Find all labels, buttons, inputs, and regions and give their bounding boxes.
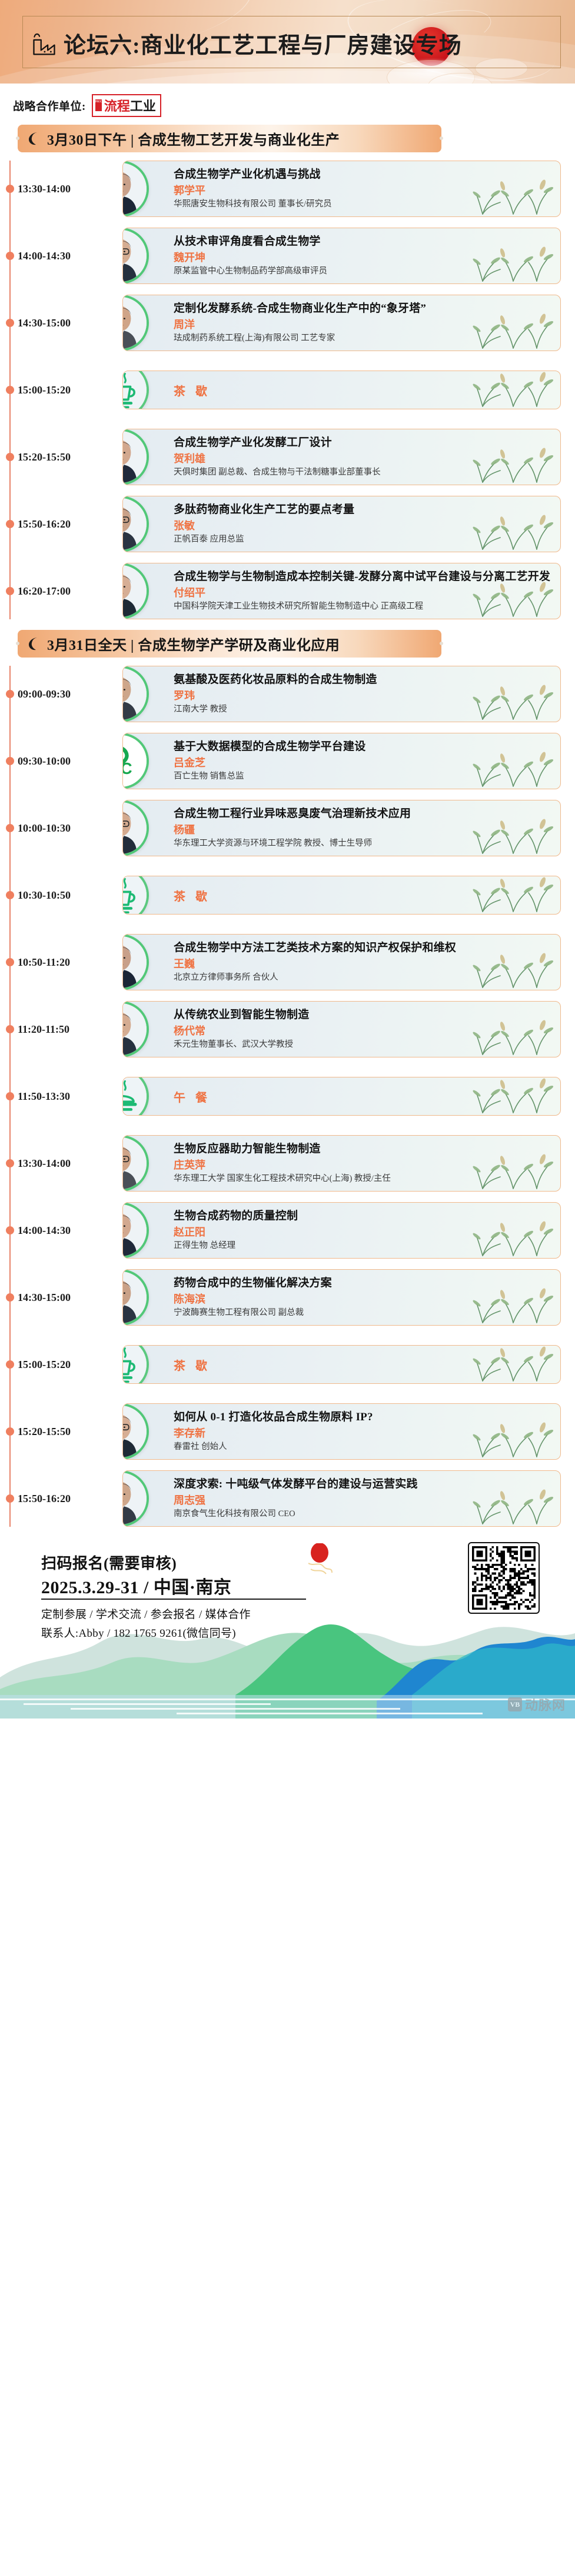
session-card[interactable]: 茶 歇 bbox=[122, 371, 561, 409]
speaker-affiliation: 原某监管中心生物制品药学部高级审评员 bbox=[174, 266, 551, 277]
speaker-name: 周志强 bbox=[174, 1494, 551, 1507]
speaker-avatar bbox=[122, 1202, 149, 1258]
session-time: 11:50-13:30 bbox=[18, 1090, 92, 1103]
session-card[interactable]: 合成生物学产业化机遇与挑战 郭学平 华熙唐安生物科技有限公司 董事长/研究员 bbox=[122, 161, 561, 216]
agenda-talk-row: 13:30-14:00 合成生物学产业化机遇与挑战 郭学平 华熙唐安生物科技有限… bbox=[0, 161, 575, 217]
speaker-avatar bbox=[122, 429, 149, 485]
agenda-talk-row: 14:00-14:30 从技术审评角度看合成生物学 魏开坤 原某监管中心生物制品… bbox=[0, 228, 575, 284]
timeline-dot bbox=[6, 690, 14, 698]
tea-cup-icon bbox=[122, 371, 149, 409]
session-card[interactable]: 生物反应器助力智能生物制造 庄英萍 华东理工大学 国家生化工程技术研究中心(上海… bbox=[122, 1135, 561, 1191]
session-time: 09:30-10:00 bbox=[18, 755, 92, 768]
page-title: 论坛六:商业化工艺工程与厂房建设专场 bbox=[64, 27, 462, 59]
speaker-name: 郭学平 bbox=[174, 185, 551, 198]
timeline-dot bbox=[6, 1226, 14, 1234]
session-card[interactable]: 合成生物工程行业异味恶臭废气治理新技术应用 杨疆 华东理工大学资源与环境工程学院… bbox=[122, 800, 561, 856]
timeline-dot bbox=[6, 1159, 14, 1167]
session-header-2: 3月31日全天 | 合成生物学产学研及商业化应用 bbox=[18, 630, 441, 658]
talk-title: 药物合成中的生物催化解决方案 bbox=[174, 1276, 551, 1290]
timeline-dot bbox=[6, 1494, 14, 1503]
watermark-mark: VB bbox=[508, 1697, 522, 1711]
agenda-talk-row: 14:00-14:30 生物合成药物的质量控制 赵正阳 正得生物 总经理 bbox=[0, 1202, 575, 1259]
break-label: 茶 歇 bbox=[174, 1356, 551, 1373]
speaker-affiliation: 正得生物 总经理 bbox=[174, 1240, 551, 1252]
speaker-name: 吕金芝 bbox=[174, 757, 551, 770]
talk-title: 生物反应器助力智能生物制造 bbox=[174, 1142, 551, 1156]
session-time: 15:20-15:50 bbox=[18, 451, 92, 463]
speaker-name: 杨疆 bbox=[174, 824, 551, 837]
session-card[interactable]: 生物合成药物的质量控制 赵正阳 正得生物 总经理 bbox=[122, 1202, 561, 1258]
watermark-text: 动脉网 bbox=[525, 1695, 566, 1714]
speaker-affiliation: 春雷社 创始人 bbox=[174, 1442, 551, 1453]
partner-label: 战略合作单位: bbox=[13, 98, 86, 114]
talk-title: 合成生物学中方法工艺类技术方案的知识产权保护和维权 bbox=[174, 941, 551, 955]
timeline-dot bbox=[6, 757, 14, 765]
speaker-affiliation: 华东理工大学资源与环境工程学院 教授、博士生导师 bbox=[174, 838, 551, 849]
timeline-dot bbox=[6, 1427, 14, 1436]
session-time: 14:00-14:30 bbox=[18, 1224, 92, 1237]
tea-cup-icon bbox=[122, 876, 149, 915]
session-header-text: 3月31日全天 | 合成生物学产学研及商业化应用 bbox=[47, 633, 340, 654]
speaker-name: 张敏 bbox=[174, 520, 551, 533]
partner-logo: PROCESS 流程工业 bbox=[92, 94, 161, 117]
speaker-affiliation: 百亡生物 销售总监 bbox=[174, 771, 551, 782]
timeline-dot bbox=[6, 587, 14, 595]
speaker-name: 周洋 bbox=[174, 319, 551, 332]
session-time: 09:00-09:30 bbox=[18, 688, 92, 700]
break-label: 午 餐 bbox=[174, 1088, 551, 1105]
footer-section: 扫码报名(需要审核) 2025.3.29-31 / 中国·南京 定制参展 / 学… bbox=[0, 1542, 575, 1719]
speaker-avatar bbox=[122, 666, 149, 722]
footer-date-location: 2025.3.29-31 / 中国·南京 bbox=[41, 1573, 231, 1599]
break-label: 茶 歇 bbox=[174, 887, 551, 904]
speaker-avatar bbox=[122, 1470, 149, 1526]
partner-logo-badge: PROCESS bbox=[95, 99, 102, 111]
session-card[interactable]: 如何从 0-1 打造化妆品合成生物原料 IP? 李存新 春雷社 创始人 bbox=[122, 1403, 561, 1459]
timeline-dot bbox=[6, 1293, 14, 1302]
agenda-talk-row: 16:20-17:00 合成生物学与生物制造成本控制关键-发酵分离中试平台建设与… bbox=[0, 563, 575, 619]
timeline-dot bbox=[6, 1025, 14, 1033]
session-time: 15:00-15:20 bbox=[18, 1359, 92, 1371]
agenda-container: 3月30日下午 | 合成生物工艺开发与商业化生产 13:30-14:00 合成生… bbox=[0, 125, 575, 1527]
header-banner: 论坛六:商业化工艺工程与厂房建设专场 bbox=[0, 0, 575, 84]
session-time: 13:30-14:00 bbox=[18, 183, 92, 195]
session-time: 16:20-17:00 bbox=[18, 585, 92, 598]
session-time: 14:30-15:00 bbox=[18, 1292, 92, 1304]
timeline-dot bbox=[6, 453, 14, 461]
agenda-talk-row: 14:30-15:00 定制化发酵系统-合成生物商业化生产中的“象牙塔” 周洋 … bbox=[0, 295, 575, 351]
timeline-dot bbox=[6, 891, 14, 899]
speaker-name: 王巍 bbox=[174, 958, 551, 971]
session-time: 15:20-15:50 bbox=[18, 1426, 92, 1438]
footer-title: 扫码报名(需要审核) bbox=[41, 1551, 177, 1573]
speaker-name: 庄英萍 bbox=[174, 1159, 551, 1172]
speaker-avatar bbox=[122, 934, 149, 990]
speaker-affiliation: 宁波酶赛生物工程有限公司 副总裁 bbox=[174, 1307, 551, 1319]
agenda-talk-row: 14:30-15:00 药物合成中的生物催化解决方案 陈海滨 宁波酶赛生物工程有… bbox=[0, 1269, 575, 1326]
session-card[interactable]: 茶 歇 bbox=[122, 1345, 561, 1384]
agenda-break-row: 15:00-15:20 茶 歇 bbox=[0, 362, 575, 418]
lunch-icon bbox=[122, 1077, 149, 1116]
session-card[interactable]: 茶 歇 bbox=[122, 876, 561, 915]
speaker-affiliation: 中国科学院天津工业生物技术研究所智能生物制造中心 正高级工程 bbox=[174, 601, 551, 612]
speaker-affiliation: 华东理工大学 国家生化工程技术研究中心(上海) 教授/主任 bbox=[174, 1173, 551, 1184]
session-time: 13:30-14:00 bbox=[18, 1157, 92, 1170]
timeline-dot bbox=[6, 185, 14, 193]
talk-title: 从技术审评角度看合成生物学 bbox=[174, 235, 551, 249]
speaker-affiliation: 珐成制药系统工程(上海)有限公司 工艺专家 bbox=[174, 333, 551, 344]
session-card[interactable]: 合成生物学与生物制造成本控制关键-发酵分离中试平台建设与分离工艺开发 付绍平 中… bbox=[122, 563, 561, 619]
speaker-avatar: BC bbox=[122, 733, 149, 789]
speaker-avatar bbox=[122, 1135, 149, 1191]
session-time: 14:30-15:00 bbox=[18, 317, 92, 329]
strategic-partner-row: 战略合作单位: PROCESS 流程工业 bbox=[0, 84, 575, 120]
session-time: 15:50-16:20 bbox=[18, 1493, 92, 1505]
session-time: 11:20-11:50 bbox=[18, 1023, 92, 1036]
session-time: 10:50-11:20 bbox=[18, 956, 92, 969]
speaker-name: 杨代常 bbox=[174, 1025, 551, 1038]
speaker-avatar bbox=[122, 496, 149, 552]
footer-contact: 联系人:Abby / 182 1765 9261(微信同号) bbox=[41, 1624, 236, 1640]
session-card[interactable]: BC 基于大数据模型的合成生物学平台建设 吕金芝 百亡生物 销售总监 bbox=[122, 733, 561, 789]
watermark: VB 动脉网 bbox=[508, 1695, 566, 1714]
speaker-affiliation: 天俱时集团 副总裁、合成生物与干法制糖事业部董事长 bbox=[174, 467, 551, 478]
session-card[interactable]: 深度求索: 十吨级气体发酵平台的建设与运营实践 周志强 南京食气生化科技有限公司… bbox=[122, 1470, 561, 1526]
agenda-talk-row: 15:20-15:50 如何从 0-1 打造化妆品合成生物原料 IP? 李存新 … bbox=[0, 1403, 575, 1460]
speaker-avatar bbox=[122, 161, 149, 216]
speaker-name: 贺利雄 bbox=[174, 453, 551, 466]
speaker-affiliation: 北京立方律师事务所 合伙人 bbox=[174, 972, 551, 983]
talk-title: 多肽药物商业化生产工艺的要点考量 bbox=[174, 503, 551, 517]
qr-code-image bbox=[472, 1546, 536, 1610]
session-card[interactable]: 氨基酸及医药化妆品原料的合成生物制造 罗玮 江南大学 教授 bbox=[122, 666, 561, 722]
agenda-talk-row: 09:00-09:30 氨基酸及医药化妆品原料的合成生物制造 罗玮 江南大学 教… bbox=[0, 666, 575, 722]
partner-logo-black-text: 工业 bbox=[130, 99, 156, 114]
agenda-talk-row: 13:30-14:00 生物反应器助力智能生物制造 庄英萍 华东理工大学 国家生… bbox=[0, 1135, 575, 1192]
session-card[interactable]: 从技术审评角度看合成生物学 魏开坤 原某监管中心生物制品药学部高级审评员 bbox=[122, 228, 561, 283]
session-time: 10:00-10:30 bbox=[18, 822, 92, 835]
speaker-affiliation: 禾元生物董事长、武汉大学教授 bbox=[174, 1039, 551, 1050]
speaker-name: 赵正阳 bbox=[174, 1226, 551, 1239]
timeline-dot bbox=[6, 824, 14, 832]
speaker-name: 魏开坤 bbox=[174, 252, 551, 265]
timeline-dot bbox=[6, 319, 14, 327]
speaker-avatar bbox=[122, 1269, 149, 1325]
speaker-avatar bbox=[122, 1403, 149, 1459]
speaker-affiliation: 南京食气生化科技有限公司 CEO bbox=[174, 1509, 551, 1520]
agenda-talk-row: 09:30-10:00 BC 基于大数据模型的合成生物学平台建设 吕金芝 百亡生… bbox=[0, 733, 575, 789]
session-time: 14:00-14:30 bbox=[18, 250, 92, 262]
svg-text:BC: BC bbox=[122, 759, 132, 778]
session-time: 10:30-10:50 bbox=[18, 889, 92, 902]
speaker-name: 付绍平 bbox=[174, 587, 551, 600]
speaker-avatar bbox=[122, 1001, 149, 1057]
talk-title: 定制化发酵系统-合成生物商业化生产中的“象牙塔” bbox=[174, 302, 551, 316]
agenda-talk-row: 10:00-10:30 合成生物工程行业异味恶臭废气治理新技术应用 杨疆 华东理… bbox=[0, 800, 575, 856]
speaker-affiliation: 正帆百泰 应用总监 bbox=[174, 534, 551, 545]
factory-icon bbox=[32, 31, 56, 56]
timeline-dot bbox=[6, 1092, 14, 1100]
talk-title: 如何从 0-1 打造化妆品合成生物原料 IP? bbox=[174, 1410, 551, 1424]
talk-title: 合成生物工程行业异味恶臭废气治理新技术应用 bbox=[174, 807, 551, 821]
session-header-1: 3月30日下午 | 合成生物工艺开发与商业化生产 bbox=[18, 125, 441, 152]
talk-title: 合成生物学与生物制造成本控制关键-发酵分离中试平台建设与分离工艺开发 bbox=[174, 570, 551, 584]
moon-icon bbox=[27, 636, 41, 652]
session-card[interactable]: 从传统农业到智能生物制造 杨代常 禾元生物董事长、武汉大学教授 bbox=[122, 1001, 561, 1057]
speaker-avatar bbox=[122, 295, 149, 351]
talk-title: 基于大数据模型的合成生物学平台建设 bbox=[174, 740, 551, 754]
agenda-list-2: 09:00-09:30 氨基酸及医药化妆品原料的合成生物制造 罗玮 江南大学 教… bbox=[0, 666, 575, 1527]
tea-cup-icon bbox=[122, 1345, 149, 1384]
timeline-dot bbox=[6, 1360, 14, 1369]
agenda-talk-row: 10:50-11:20 合成生物学中方法工艺类技术方案的知识产权保护和维权 王巍… bbox=[0, 934, 575, 990]
session-card[interactable]: 多肽药物商业化生产工艺的要点考量 张敏 正帆百泰 应用总监 bbox=[122, 496, 561, 552]
qr-code[interactable] bbox=[468, 1542, 540, 1614]
session-time: 15:00-15:20 bbox=[18, 384, 92, 396]
session-card[interactable]: 合成生物学产业化发酵工厂设计 贺利雄 天俱时集团 副总裁、合成生物与干法制糖事业… bbox=[122, 429, 561, 485]
talk-title: 深度求索: 十吨级气体发酵平台的建设与运营实践 bbox=[174, 1477, 551, 1491]
session-card[interactable]: 合成生物学中方法工艺类技术方案的知识产权保护和维权 王巍 北京立方律师事务所 合… bbox=[122, 934, 561, 990]
agenda-talk-row: 15:50-16:20 深度求索: 十吨级气体发酵平台的建设与运营实践 周志强 … bbox=[0, 1470, 575, 1527]
session-header-text: 3月30日下午 | 合成生物工艺开发与商业化生产 bbox=[47, 128, 340, 149]
speaker-avatar bbox=[122, 563, 149, 619]
break-label: 茶 歇 bbox=[174, 382, 551, 399]
speaker-avatar bbox=[122, 800, 149, 856]
talk-title: 氨基酸及医药化妆品原料的合成生物制造 bbox=[174, 673, 551, 687]
timeline-dot bbox=[6, 252, 14, 260]
session-card[interactable]: 药物合成中的生物催化解决方案 陈海滨 宁波酶赛生物工程有限公司 副总裁 bbox=[122, 1269, 561, 1325]
talk-title: 生物合成药物的质量控制 bbox=[174, 1209, 551, 1223]
agenda-talk-row: 15:20-15:50 合成生物学产业化发酵工厂设计 贺利雄 天俱时集团 副总裁… bbox=[0, 429, 575, 485]
session-card[interactable]: 午 餐 bbox=[122, 1077, 561, 1116]
session-card[interactable]: 定制化发酵系统-合成生物商业化生产中的“象牙塔” 周洋 珐成制药系统工程(上海)… bbox=[122, 295, 561, 351]
talk-title: 合成生物学产业化发酵工厂设计 bbox=[174, 436, 551, 450]
speaker-affiliation: 江南大学 教授 bbox=[174, 704, 551, 715]
talk-title: 从传统农业到智能生物制造 bbox=[174, 1008, 551, 1022]
speaker-affiliation: 华熙唐安生物科技有限公司 董事长/研究员 bbox=[174, 199, 551, 210]
footer-divider bbox=[41, 1599, 306, 1600]
agenda-talk-row: 11:20-11:50 从传统农业到智能生物制造 杨代常 禾元生物董事长、武汉大… bbox=[0, 1001, 575, 1057]
speaker-avatar bbox=[122, 228, 149, 283]
agenda-list-1: 13:30-14:00 合成生物学产业化机遇与挑战 郭学平 华熙唐安生物科技有限… bbox=[0, 161, 575, 619]
agenda-break-row: 15:00-15:20 茶 歇 bbox=[0, 1336, 575, 1393]
moon-icon bbox=[27, 131, 41, 146]
speaker-name: 罗玮 bbox=[174, 690, 551, 703]
timeline-dot bbox=[6, 958, 14, 966]
agenda-break-row: 11:50-13:30 午 餐 bbox=[0, 1068, 575, 1125]
session-time: 15:50-16:20 bbox=[18, 518, 92, 530]
footer-services: 定制参展 / 学术交流 / 参会报名 / 媒体合作 bbox=[41, 1606, 251, 1621]
agenda-talk-row: 15:50-16:20 多肽药物商业化生产工艺的要点考量 张敏 正帆百泰 应用总… bbox=[0, 496, 575, 552]
speaker-name: 李存新 bbox=[174, 1427, 551, 1440]
decor-mountains bbox=[0, 1607, 575, 1719]
lantern-icon bbox=[306, 1543, 333, 1579]
timeline-dot bbox=[6, 520, 14, 528]
talk-title: 合成生物学产业化机遇与挑战 bbox=[174, 168, 551, 182]
speaker-name: 陈海滨 bbox=[174, 1293, 551, 1306]
agenda-break-row: 10:30-10:50 茶 歇 bbox=[0, 867, 575, 923]
timeline-dot bbox=[6, 386, 14, 394]
partner-logo-red-text: 流程 bbox=[104, 99, 130, 114]
